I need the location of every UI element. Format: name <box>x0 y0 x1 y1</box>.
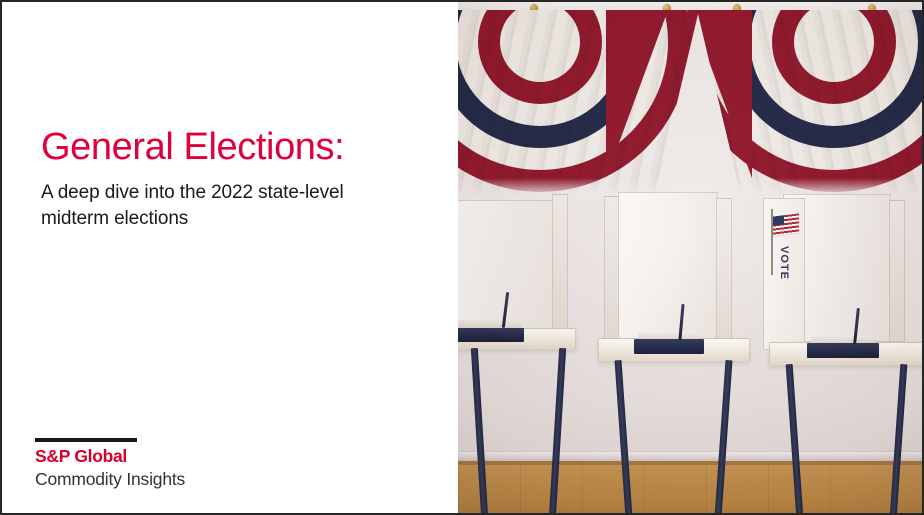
us-flag-icon <box>773 213 799 235</box>
flag-canton <box>773 215 784 225</box>
vote-sign: VOTE <box>763 198 805 350</box>
voting-booth <box>458 192 582 515</box>
logo-rule <box>35 438 137 442</box>
patriotic-bunting <box>458 2 924 200</box>
vote-sign-label: VOTE <box>778 237 790 289</box>
voting-booth <box>598 192 758 515</box>
page-title: General Elections: <box>41 126 344 169</box>
hero-photo: VOTE <box>458 2 924 515</box>
logo-secondary-text: Commodity Insights <box>35 468 185 491</box>
logo-primary-text: S&P Global <box>35 446 185 468</box>
page-subtitle: A deep dive into the 2022 state-level mi… <box>41 180 401 232</box>
presentation-slide: General Elections: A deep dive into the … <box>0 0 924 515</box>
voting-booth: VOTE <box>763 192 924 515</box>
title-panel: General Elections: A deep dive into the … <box>2 2 458 513</box>
brand-logo: S&P Global Commodity Insights <box>35 438 185 491</box>
wall-gap <box>654 14 742 200</box>
